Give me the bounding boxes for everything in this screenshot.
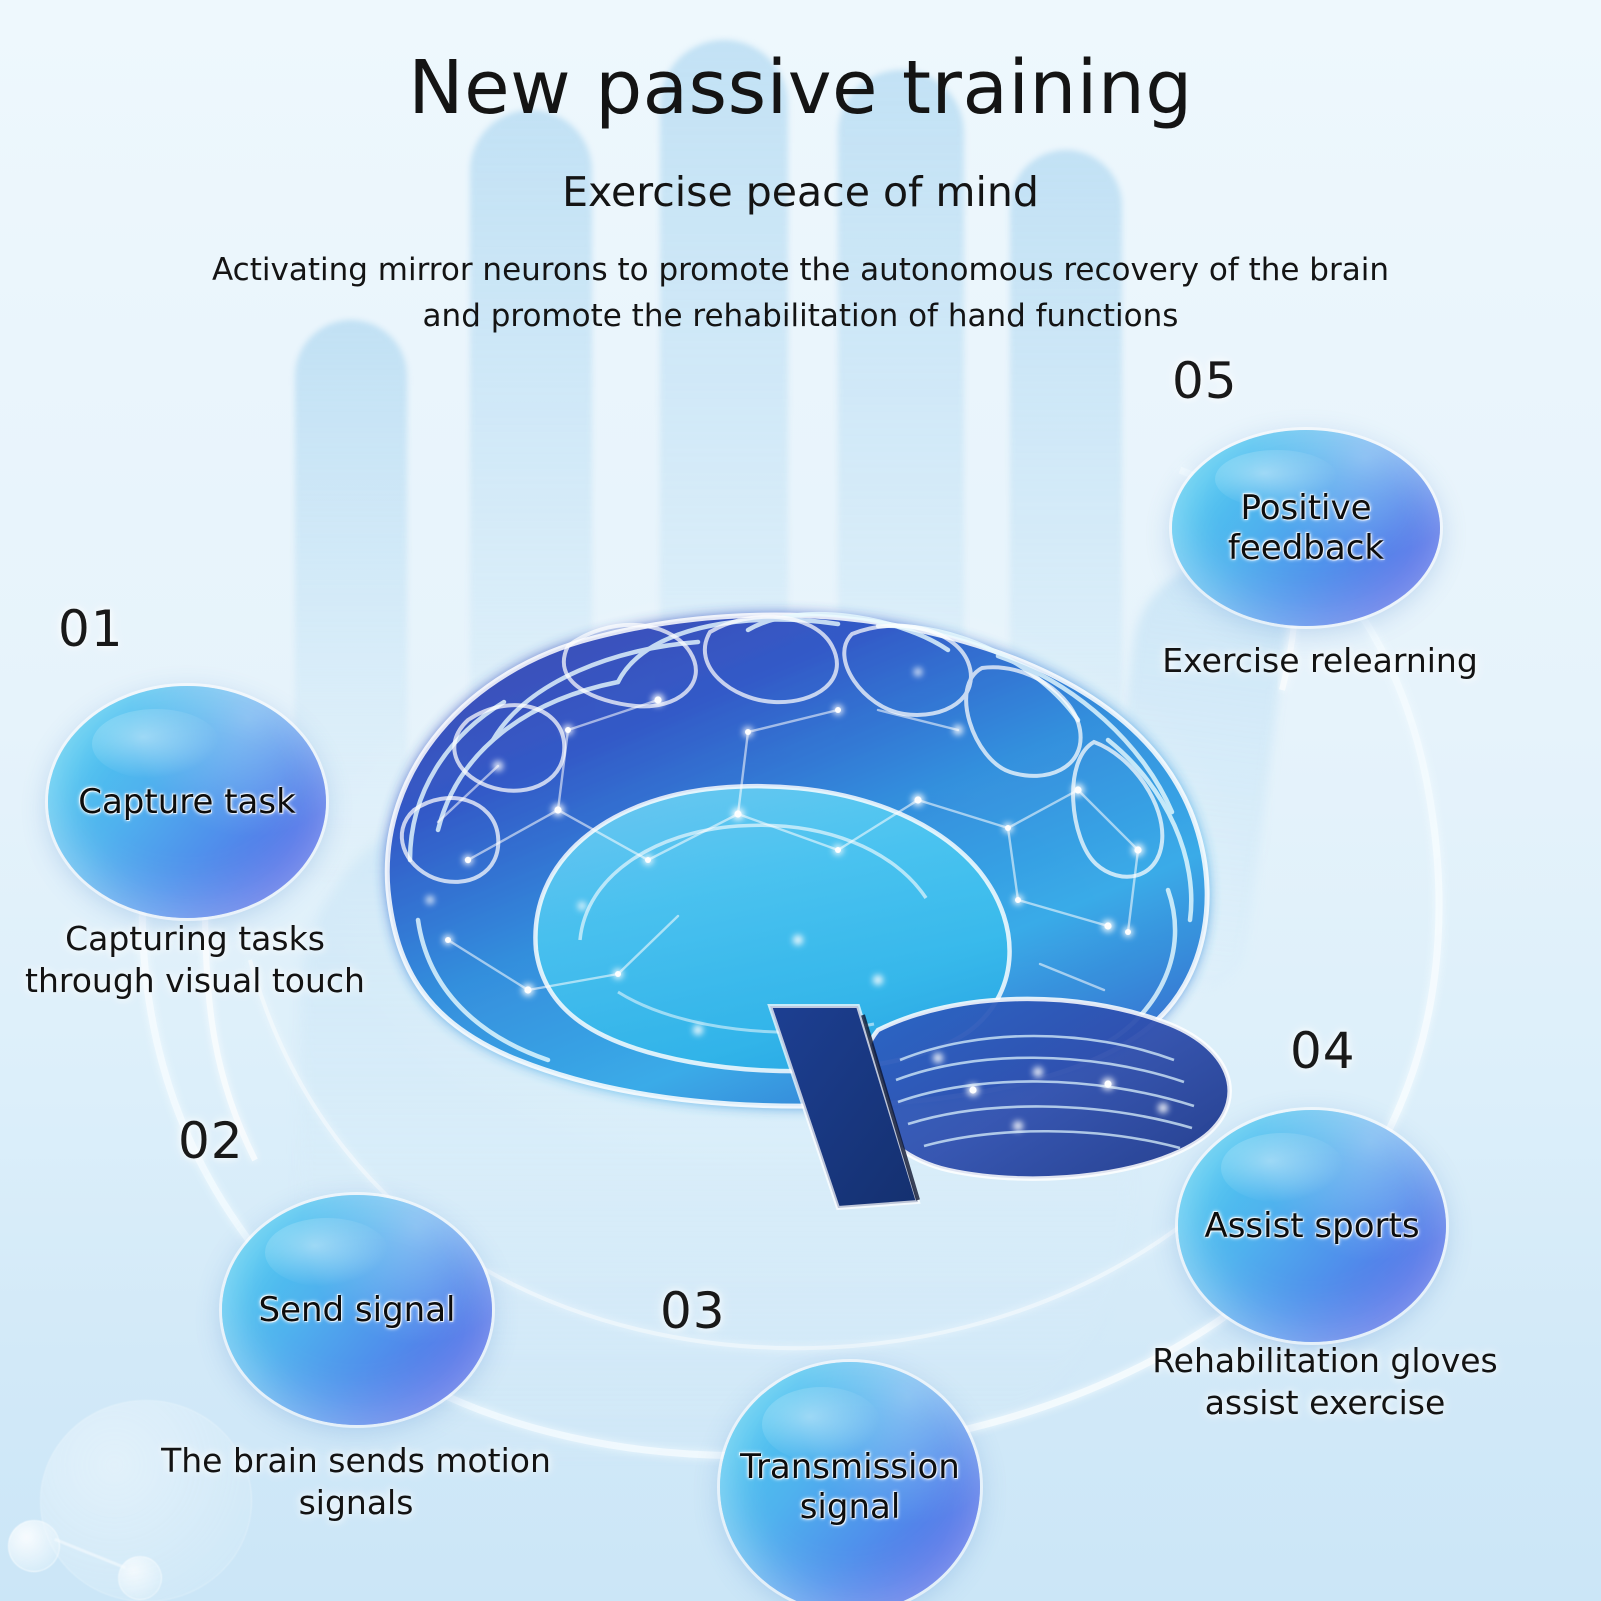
step-02-number: 02 [178, 1112, 244, 1170]
step-04-label: Assist sports [1192, 1206, 1431, 1246]
decorative-molecule-bond [54, 1538, 126, 1569]
step-04-bubble[interactable]: Assist sports [1178, 1110, 1446, 1342]
step-03-label: Transmission signal [728, 1447, 972, 1527]
step-05-number: 05 [1172, 352, 1238, 410]
hand-finger-middle [470, 110, 592, 900]
step-03-bubble[interactable]: Transmission signal [720, 1362, 980, 1601]
step-01-number: 01 [58, 600, 124, 658]
step-03-number: 03 [660, 1282, 726, 1340]
brain-illustration [318, 560, 1248, 1220]
decorative-molecule-dot [8, 1520, 60, 1572]
step-01-bubble[interactable]: Capture task [48, 686, 326, 918]
step-05-label: Positive feedback [1216, 488, 1396, 568]
step-01-caption: Capturing tasks through visual touch [10, 918, 380, 1002]
page-subtitle: Exercise peace of mind [0, 170, 1601, 215]
step-05-caption: Exercise relearning [1120, 640, 1520, 682]
step-02-bubble[interactable]: Send signal [222, 1195, 492, 1425]
decorative-molecule-dot [118, 1556, 162, 1600]
step-04-number: 04 [1290, 1022, 1356, 1080]
step-04-caption: Rehabilitation gloves assist exercise [1115, 1340, 1535, 1424]
step-01-label: Capture task [66, 782, 308, 822]
step-05-bubble[interactable]: Positive feedback [1172, 430, 1440, 626]
step-02-caption: The brain sends motion signals [106, 1440, 606, 1524]
step-02-label: Send signal [246, 1290, 467, 1330]
page-title: New passive training [0, 48, 1601, 129]
page-description: Activating mirror neurons to promote the… [0, 248, 1601, 340]
infographic-poster: New passive training Exercise peace of m… [0, 0, 1601, 1601]
